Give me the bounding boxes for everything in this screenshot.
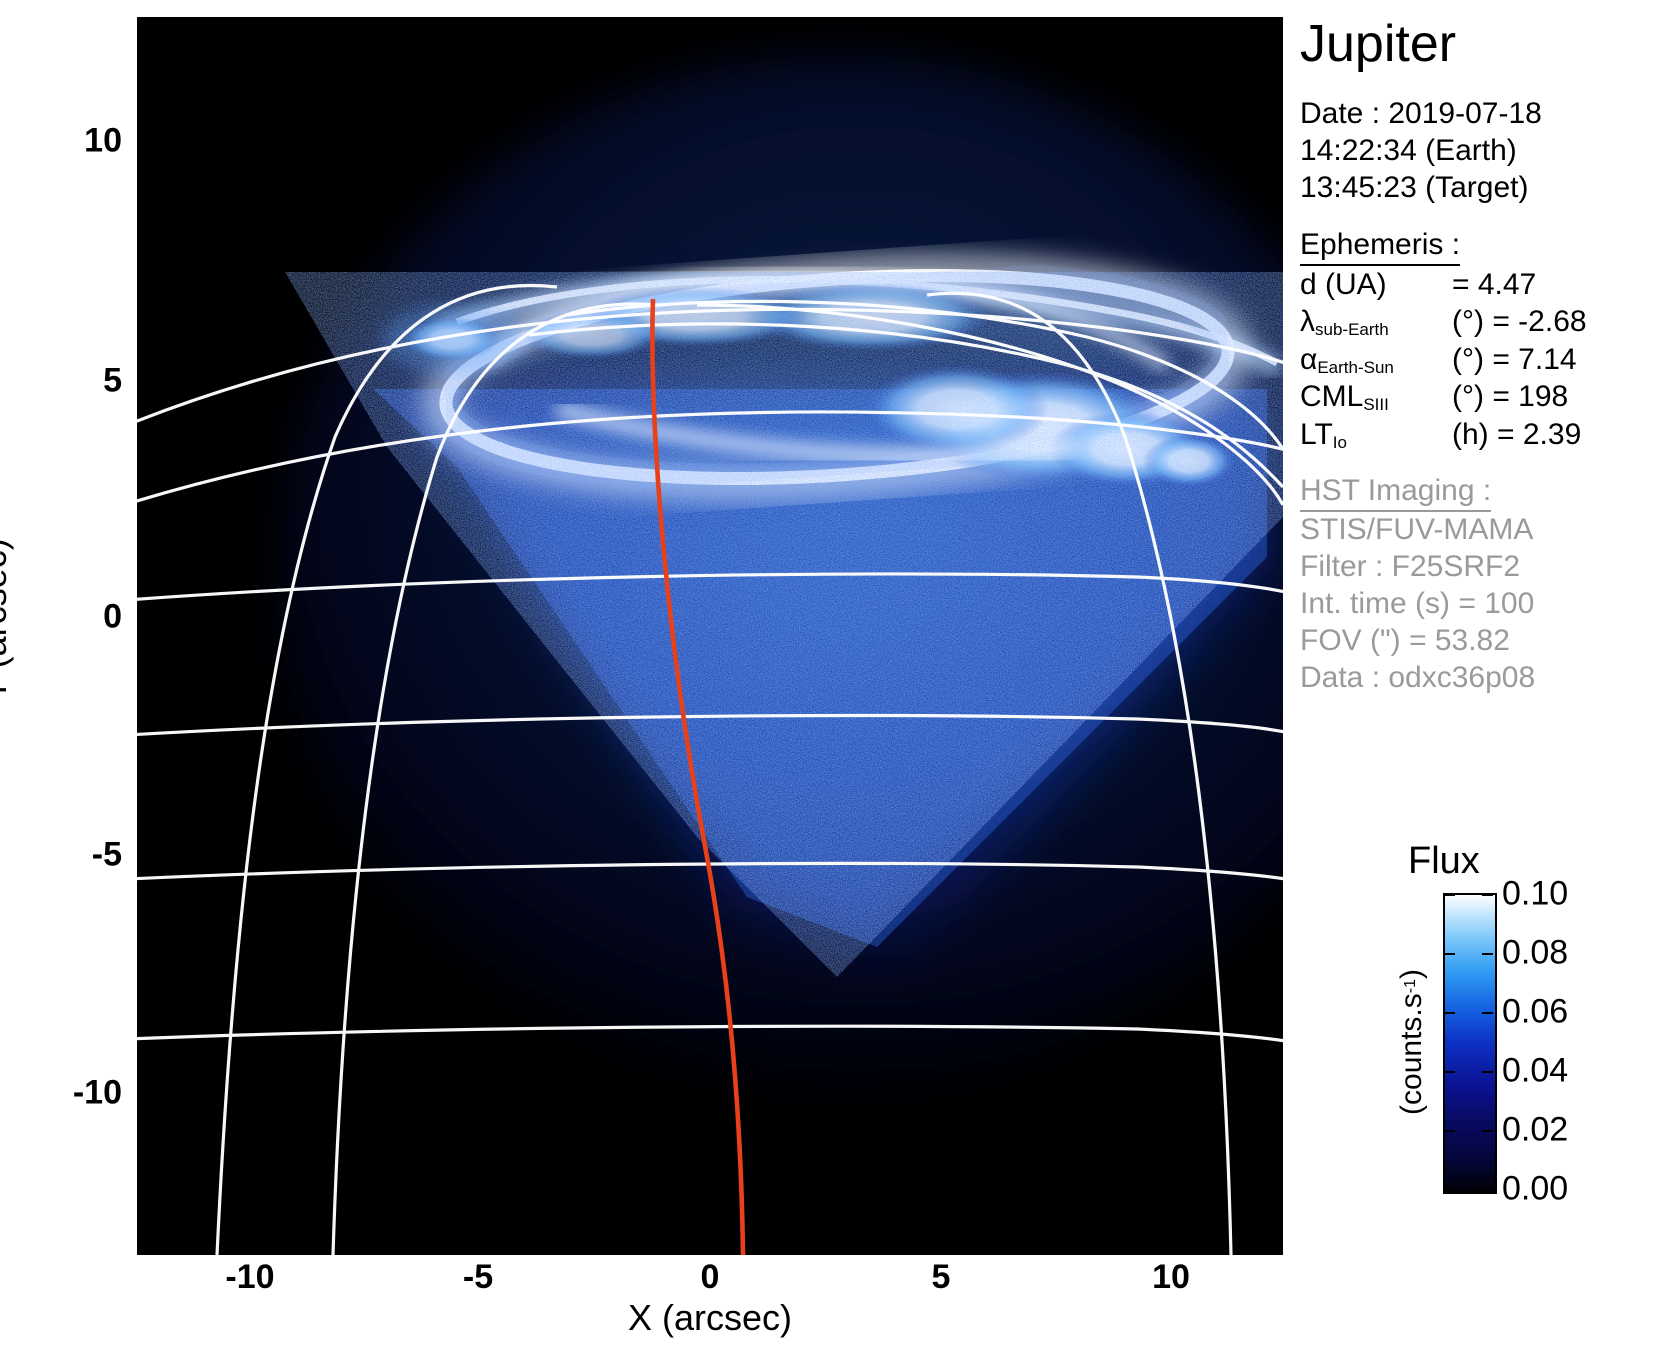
- ephemeris-name-alpha: α: [1300, 343, 1317, 376]
- colorbar-tick-004: 0.04: [1502, 1052, 1568, 1091]
- colorbar-ticks: 0.10 0.08 0.06 0.04 0.02 0.00: [1300, 830, 1676, 1230]
- colorbar-tick-000: 0.00: [1502, 1170, 1568, 1209]
- y-tick-0: 0: [103, 598, 122, 637]
- colorbar-tick-008: 0.08: [1502, 934, 1568, 973]
- observation-date: Date : 2019-07-18: [1300, 96, 1676, 133]
- ephemeris-name-lt: LT: [1300, 418, 1333, 451]
- ephemeris-value-distance: = 4.47: [1452, 268, 1536, 301]
- instrument-filter: Filter : F25SRF2: [1300, 549, 1676, 586]
- ephemeris-name-distance: d (UA): [1300, 268, 1387, 301]
- aurora-image-canvas: [137, 17, 1283, 1255]
- ephemeris-row-distance: d (UA)= 4.47: [1300, 266, 1676, 304]
- ephemeris-unit-cml: (°): [1452, 380, 1484, 413]
- ephemeris-row-alpha: αEarth-Sun(°) = 7.14: [1300, 341, 1676, 379]
- y-tick-5: 5: [103, 362, 122, 401]
- y-tick-10: 10: [84, 122, 122, 161]
- target-title: Jupiter: [1300, 18, 1676, 70]
- instrument-dataset: Data : odxc36p08: [1300, 660, 1676, 697]
- x-tick-5: 5: [932, 1258, 951, 1297]
- x-tick-minus5: -5: [463, 1258, 493, 1297]
- ephemeris-value-alpha: = 7.14: [1492, 343, 1576, 376]
- instrument-detector: STIS/FUV-MAMA: [1300, 512, 1676, 549]
- y-axis-title: Y (arcsec): [0, 538, 15, 701]
- observation-time-earth: 14:22:34 (Earth): [1300, 133, 1676, 170]
- x-tick-10: 10: [1152, 1258, 1190, 1297]
- x-tick-minus10: -10: [225, 1258, 274, 1297]
- colorbar-block: Flux (counts.s-1) 0.10 0.08 0.06 0.04 0.…: [1300, 830, 1676, 1230]
- instrument-fov: FOV (") = 53.82: [1300, 623, 1676, 660]
- ephemeris-header: Ephemeris :: [1300, 227, 1460, 266]
- ephemeris-block: Ephemeris : d (UA)= 4.47 λsub-Earth(°) =…: [1300, 227, 1676, 454]
- colorbar-tick-002: 0.02: [1502, 1111, 1568, 1150]
- ephemeris-sub-lambda: sub-Earth: [1315, 320, 1389, 339]
- ephemeris-name-cml: CML: [1300, 380, 1363, 413]
- ephemeris-sub-cml: SIII: [1363, 395, 1389, 414]
- instrument-header: HST Imaging :: [1300, 473, 1491, 512]
- y-axis-ticks: 10 5 0 -5 -10: [0, 17, 130, 1255]
- ephemeris-value-cml: = 198: [1492, 380, 1568, 413]
- ephemeris-value-lt: = 2.39: [1497, 418, 1581, 451]
- ephemeris-row-cml: CMLSIII(°) = 198: [1300, 378, 1676, 416]
- ephemeris-unit-lambda: (°): [1452, 305, 1484, 338]
- ephemeris-sub-lt: Io: [1333, 433, 1347, 452]
- ephemeris-unit-alpha: (°): [1452, 343, 1484, 376]
- y-tick-minus10: -10: [73, 1074, 122, 1113]
- metadata-panel: Jupiter Date : 2019-07-18 14:22:34 (Eart…: [1300, 0, 1676, 800]
- observation-time-target: 13:45:23 (Target): [1300, 170, 1676, 207]
- instrument-integration-time: Int. time (s) = 100: [1300, 586, 1676, 623]
- x-axis-title: X (arcsec): [628, 1297, 792, 1339]
- instrument-block: HST Imaging : STIS/FUV-MAMA Filter : F25…: [1300, 473, 1676, 696]
- colorbar-tick-006: 0.06: [1502, 993, 1568, 1032]
- ephemeris-row-lt: LTIo(h) = 2.39: [1300, 416, 1676, 454]
- colorbar-tick-010: 0.10: [1502, 875, 1568, 914]
- x-tick-0: 0: [701, 1258, 720, 1297]
- ephemeris-sub-alpha: Earth-Sun: [1317, 358, 1394, 377]
- aurora-image-plot: [137, 17, 1283, 1255]
- ephemeris-value-lambda: = -2.68: [1492, 305, 1586, 338]
- ephemeris-unit-lt: (h): [1452, 418, 1489, 451]
- ephemeris-row-lambda: λsub-Earth(°) = -2.68: [1300, 303, 1676, 341]
- ephemeris-name-lambda: λ: [1300, 305, 1315, 338]
- y-tick-minus5: -5: [92, 836, 122, 875]
- observation-block: Date : 2019-07-18 14:22:34 (Earth) 13:45…: [1300, 96, 1676, 207]
